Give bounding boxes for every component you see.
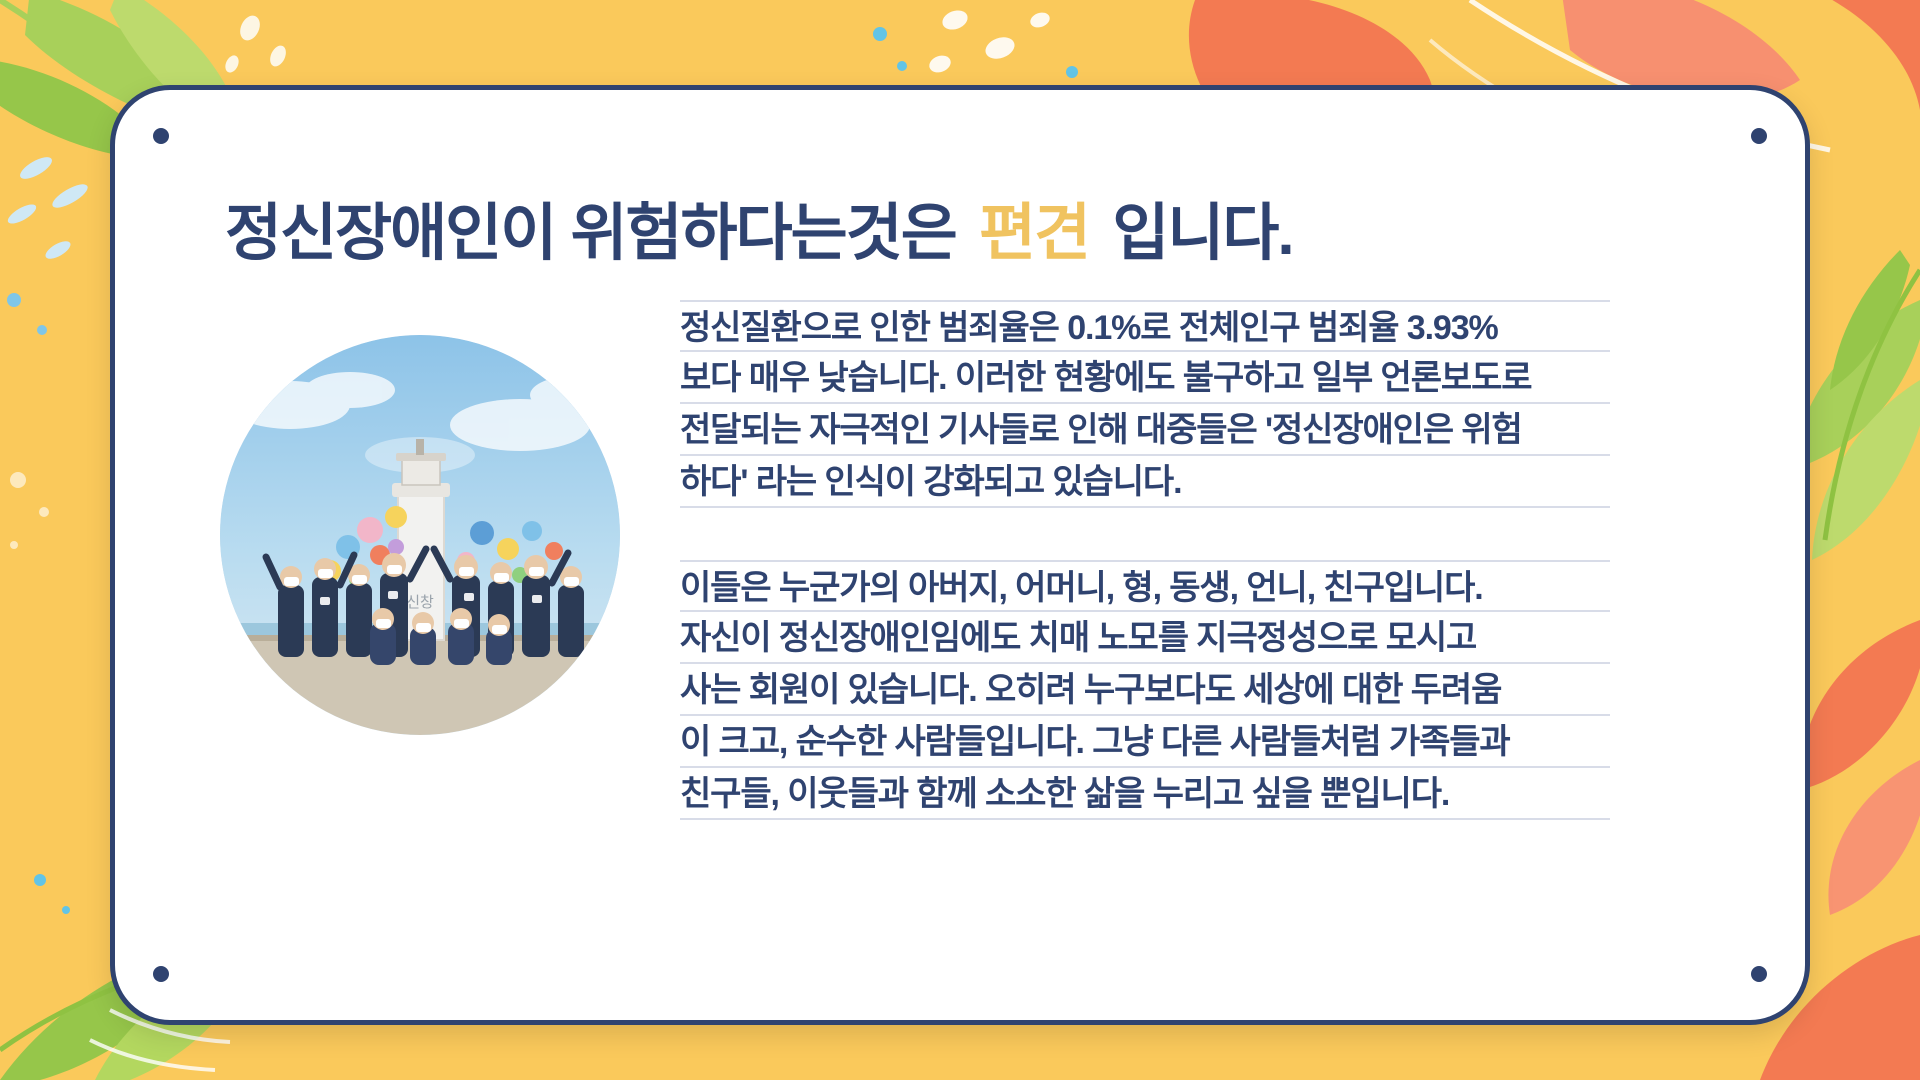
- svg-text:신창: 신창: [406, 594, 434, 611]
- paragraph-1: 정신질환으로 인한 범죄율은 0.1%로 전체인구 범죄율 3.93% 보다 매…: [680, 300, 1610, 508]
- paragraph-1-line-4: 하다' 라는 인식이 강화되고 있습니다.: [680, 456, 1610, 508]
- corner-screw-top-right: [1751, 128, 1767, 144]
- corner-screw-top-left: [153, 128, 169, 144]
- group-photo-illustration: 신창: [220, 335, 620, 735]
- blue-dots-left: [7, 293, 47, 335]
- cream-blobs-top: [927, 7, 1052, 75]
- body-text-column: 정신질환으로 인한 범죄율은 0.1%로 전체인구 범죄율 3.93% 보다 매…: [680, 300, 1610, 820]
- white-dots-left-edge: [10, 472, 49, 549]
- paragraph-2-line-3: 사는 회원이 있습니다. 오히려 누구보다도 세상에 대한 두려움: [680, 664, 1610, 716]
- content-card: 정신장애인이 위험하다는것은 편견 입니다.: [110, 85, 1810, 1025]
- paragraph-2-line-2: 자신이 정신장애인임에도 치매 노모를 지극정성으로 모시고: [680, 612, 1610, 664]
- brush-strokes-left: [5, 153, 91, 262]
- paragraph-2-line-5: 친구들, 이웃들과 함께 소소한 삶을 누리고 싶을 뿐입니다.: [680, 768, 1610, 820]
- cyan-dots-top: [873, 27, 1078, 78]
- cyan-dots-bottom: [34, 874, 70, 914]
- paragraph-1-line-1: 정신질환으로 인한 범죄율은 0.1%로 전체인구 범죄율 3.93%: [680, 300, 1610, 352]
- dot-cluster-top-left: [223, 12, 289, 74]
- title-part-before: 정신장애인이 위험하다는것은: [225, 199, 956, 268]
- paragraph-2: 이들은 누군가의 아버지, 어머니, 형, 동생, 언니, 친구입니다. 자신이…: [680, 560, 1610, 820]
- paragraph-2-line-1: 이들은 누군가의 아버지, 어머니, 형, 동생, 언니, 친구입니다.: [680, 560, 1610, 612]
- corner-screw-bottom-right: [1751, 966, 1767, 982]
- title-part-after: 입니다.: [1112, 199, 1292, 268]
- page-title: 정신장애인이 위험하다는것은 편견 입니다.: [225, 200, 1725, 268]
- paragraph-spacer: [680, 508, 1610, 560]
- corner-screw-bottom-left: [153, 966, 169, 982]
- paragraph-2-line-4: 이 크고, 순수한 사람들입니다. 그냥 다른 사람들처럼 가족들과: [680, 716, 1610, 768]
- title-highlight-word: 편견: [971, 199, 1097, 268]
- paragraph-1-line-3: 전달되는 자극적인 기사들로 인해 대중들은 '정신장애인은 위험: [680, 404, 1610, 456]
- paragraph-1-line-2: 보다 매우 낮습니다. 이러한 현황에도 불구하고 일부 언론보도로: [680, 352, 1610, 404]
- group-photo: 신창: [220, 335, 620, 735]
